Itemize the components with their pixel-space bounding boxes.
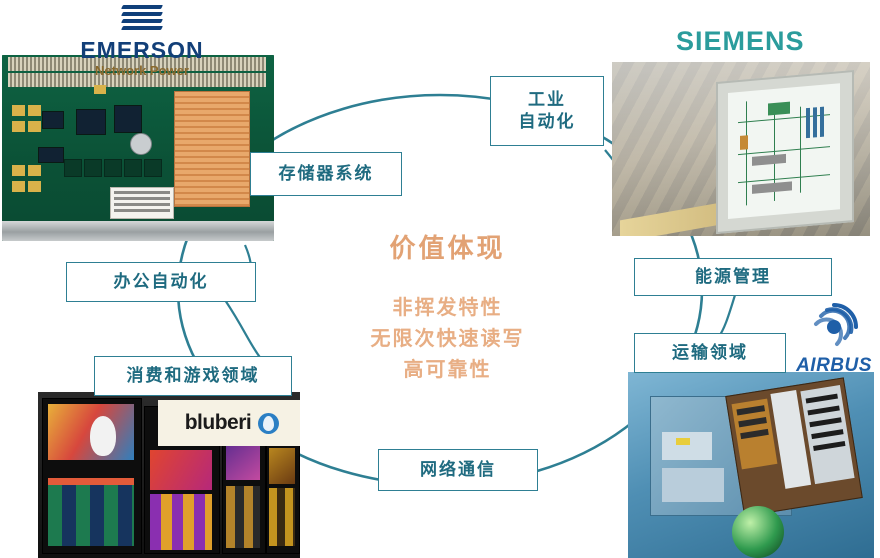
- siemens-logo: SIEMENS: [676, 26, 805, 57]
- node-energy-management[interactable]: 能源管理: [634, 258, 832, 296]
- link-energy: [718, 295, 735, 338]
- value-proposition-block: 价值体现 非挥发特性 无限次快速读写 高可靠性: [330, 228, 565, 382]
- node-transportation[interactable]: 运输领域: [634, 333, 786, 373]
- value-line-3: 高可靠性: [330, 353, 565, 382]
- airbus-swirl-icon: [807, 300, 861, 354]
- bluberi-wordmark: bluberi: [185, 411, 252, 435]
- emerson-logo: EMERSON Network Power: [52, 2, 232, 78]
- telecom-rack-photo: [628, 372, 874, 558]
- bluberi-mark-icon: [258, 413, 279, 434]
- airbus-wordmark: AIRBUS: [795, 355, 873, 377]
- emerson-pcb-photo: [2, 55, 274, 241]
- value-line-1: 非挥发特性: [330, 291, 565, 320]
- value-line-2: 无限次快速读写: [330, 322, 565, 351]
- airbus-logo: AIRBUS: [795, 300, 873, 377]
- node-network-communication[interactable]: 网络通信: [378, 449, 538, 491]
- emerson-tagline: Network Power: [52, 63, 232, 78]
- link-gaming: [225, 300, 262, 360]
- node-consumer-gaming[interactable]: 消费和游戏领域: [94, 356, 292, 396]
- node-office-automation[interactable]: 办公自动化: [66, 262, 256, 302]
- node-industrial-automation[interactable]: 工业 自动化: [490, 76, 604, 146]
- slide-canvas: bluberi EMERSON Network Power: [0, 0, 880, 558]
- bluberi-slot-photo: bluberi: [38, 392, 300, 558]
- emerson-mark-icon: [122, 2, 162, 36]
- bluberi-logo: bluberi: [158, 400, 300, 446]
- siemens-hmi-photo: [612, 62, 870, 236]
- emerson-wordmark: EMERSON: [52, 37, 232, 64]
- value-title: 价值体现: [330, 228, 565, 265]
- node-memory-system[interactable]: 存储器系统: [250, 152, 402, 196]
